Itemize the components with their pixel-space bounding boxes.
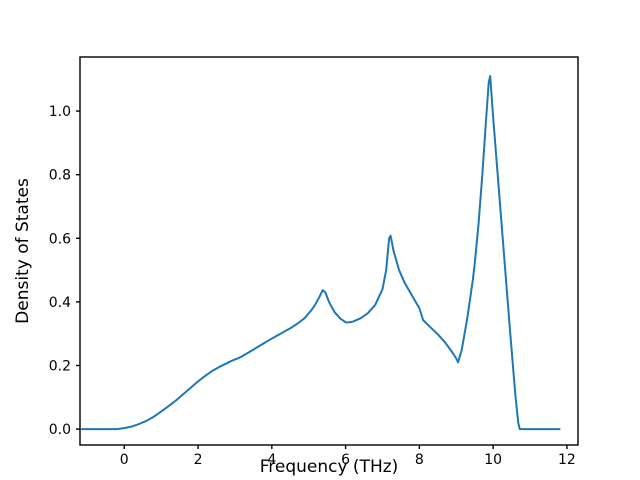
y-tick-label: 0.4 <box>49 295 71 311</box>
y-axis-label: Density of States <box>13 178 33 324</box>
x-tick-label: 2 <box>194 452 203 468</box>
y-tick-label: 0.0 <box>49 422 71 438</box>
y-tick-label: 0.2 <box>49 358 71 374</box>
x-tick-label: 12 <box>558 452 576 468</box>
y-tick-label: 1.0 <box>49 104 71 120</box>
x-tick-label: 8 <box>415 452 424 468</box>
dos-line-chart: 024681012 0.00.20.40.60.81.0 Frequency (… <box>0 0 640 480</box>
x-tick-label: 10 <box>484 452 502 468</box>
x-tick-label: 0 <box>120 452 129 468</box>
y-axis-ticks: 0.00.20.40.60.81.0 <box>49 104 80 438</box>
y-tick-label: 0.6 <box>49 231 71 247</box>
y-tick-label: 0.8 <box>49 168 71 184</box>
x-axis-label: Frequency (THz) <box>260 457 399 477</box>
figure-canvas: 024681012 0.00.20.40.60.81.0 Frequency (… <box>0 0 640 480</box>
